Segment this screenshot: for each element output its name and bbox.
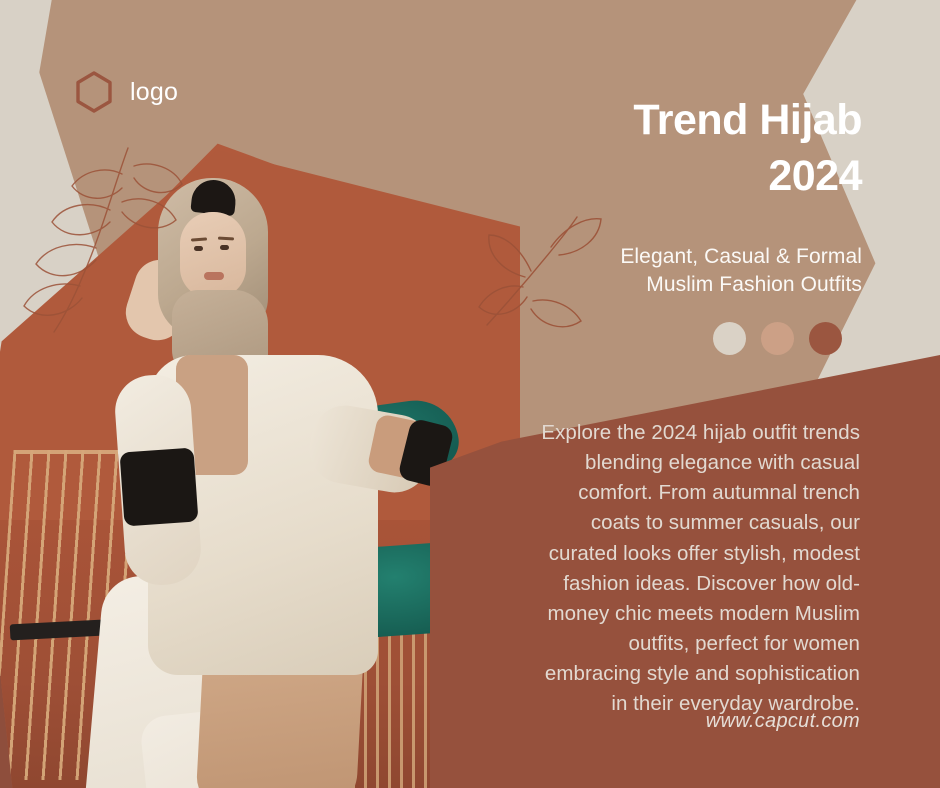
hexagon-outline-icon	[72, 70, 116, 114]
swatch-dot-cream[interactable]	[713, 322, 746, 355]
color-swatch-group	[713, 322, 842, 355]
model-cuff-black-left	[120, 448, 199, 527]
leaf-branch-icon	[10, 140, 210, 340]
headline-line-1: Trend Hijab	[633, 96, 862, 144]
subtitle: Elegant, Casual & Formal Muslim Fashion …	[540, 243, 862, 298]
brand-logo[interactable]: logo	[72, 70, 178, 114]
model-eye-right	[220, 245, 229, 250]
website-url: www.capcut.com	[532, 710, 860, 733]
swatch-dot-rust[interactable]	[809, 322, 842, 355]
page-title: Trend Hijab 2024	[560, 93, 862, 205]
poster-canvas: logo Trend Hijab 2024 Elegant, Casual & …	[0, 0, 940, 788]
logo-text: logo	[130, 78, 178, 107]
headline-line-2: 2024	[560, 149, 862, 205]
subtitle-line-1: Elegant, Casual & Formal	[540, 243, 862, 271]
subtitle-line-2: Muslim Fashion Outfits	[540, 271, 862, 299]
body-paragraph: Explore the 2024 hijab outfit trends ble…	[532, 418, 860, 719]
swatch-dot-peach[interactable]	[761, 322, 794, 355]
